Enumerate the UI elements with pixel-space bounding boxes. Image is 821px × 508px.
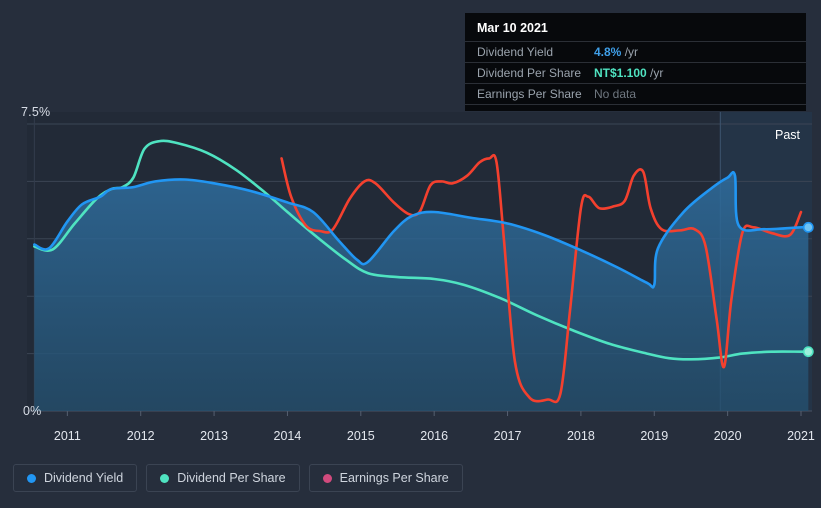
- x-axis-label-2016: 2016: [420, 429, 448, 443]
- x-axis-label-2018: 2018: [567, 429, 595, 443]
- x-axis-label-2015: 2015: [347, 429, 375, 443]
- x-axis-label-2019: 2019: [640, 429, 668, 443]
- x-axis-label-2021: 2021: [787, 429, 815, 443]
- x-axis-label-2014: 2014: [274, 429, 302, 443]
- x-axis-label-2020: 2020: [714, 429, 742, 443]
- chart-legend: Dividend YieldDividend Per ShareEarnings…: [13, 464, 463, 492]
- x-axis-label-2017: 2017: [494, 429, 522, 443]
- dividend-yield-endpoint[interactable]: [804, 223, 813, 232]
- legend-color-dot-icon: [160, 474, 169, 483]
- dividend-per-share-endpoint[interactable]: [804, 347, 813, 356]
- tooltip-label-dividend-yield: Dividend Yield: [477, 45, 594, 59]
- dividend-chart: 7.5% 0% 20112012201320142015201620172018…: [0, 0, 821, 508]
- y-axis-label-min: 0%: [23, 404, 41, 418]
- x-axis-label-2012: 2012: [127, 429, 155, 443]
- chart-tooltip: Mar 10 2021 Dividend Yield 4.8% /yr Divi…: [465, 13, 806, 111]
- legend-dividend-per-share[interactable]: Dividend Per Share: [146, 464, 299, 492]
- legend-color-dot-icon: [27, 474, 36, 483]
- tooltip-row-dividend-yield: Dividend Yield 4.8% /yr: [465, 41, 806, 62]
- tooltip-unit-dividend-per-share: /yr: [647, 66, 664, 80]
- legend-dividend-yield[interactable]: Dividend Yield: [13, 464, 137, 492]
- legend-label: Dividend Per Share: [177, 471, 285, 485]
- tooltip-date: Mar 10 2021: [465, 21, 806, 41]
- tooltip-value-dividend-yield: 4.8%: [594, 45, 621, 59]
- x-axis-label-2013: 2013: [200, 429, 228, 443]
- tooltip-row-dividend-per-share: Dividend Per Share NT$1.100 /yr: [465, 62, 806, 83]
- legend-color-dot-icon: [323, 474, 332, 483]
- legend-label: Earnings Per Share: [340, 471, 449, 485]
- past-region-label: Past: [775, 128, 800, 142]
- tooltip-label-earnings-per-share: Earnings Per Share: [477, 87, 594, 101]
- tooltip-value-dividend-per-share: NT$1.100: [594, 66, 647, 80]
- tooltip-label-dividend-per-share: Dividend Per Share: [477, 66, 594, 80]
- y-axis-label-max: 7.5%: [21, 105, 50, 119]
- tooltip-row-earnings-per-share: Earnings Per Share No data: [465, 83, 806, 105]
- x-axis-label-2011: 2011: [54, 429, 81, 443]
- legend-label: Dividend Yield: [44, 471, 123, 485]
- tooltip-value-earnings-per-share: No data: [594, 87, 636, 101]
- legend-earnings-per-share[interactable]: Earnings Per Share: [309, 464, 463, 492]
- tooltip-unit-dividend-yield: /yr: [621, 45, 638, 59]
